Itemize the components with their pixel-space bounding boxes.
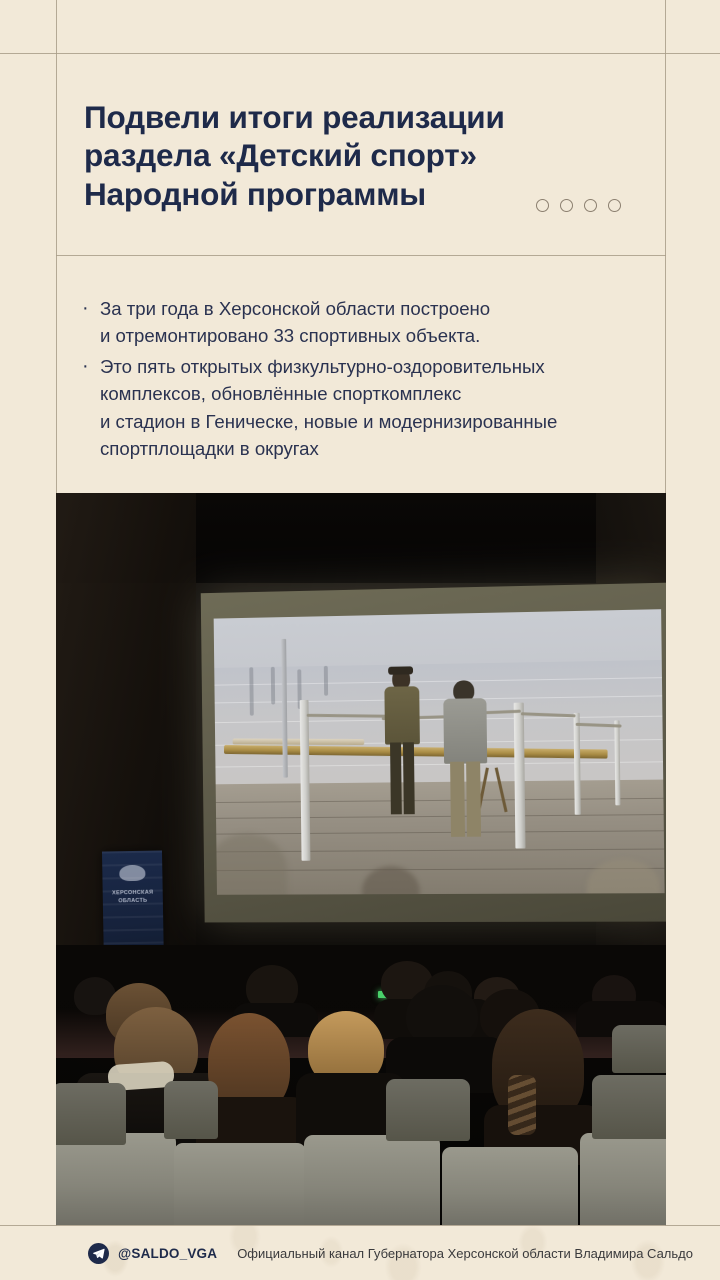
title-block: Подвели итоги реализации раздела «Детски… — [84, 98, 644, 213]
film-rail-post — [573, 713, 580, 815]
film-boat-hull-2 — [233, 739, 365, 746]
bullet-list: За три года в Херсонской области построе… — [78, 295, 658, 466]
seat — [174, 1143, 306, 1225]
seat — [580, 1133, 666, 1225]
seat — [164, 1081, 218, 1139]
projected-film-frame — [214, 609, 665, 895]
seat — [592, 1075, 666, 1139]
seat — [304, 1135, 440, 1225]
telegram-icon[interactable] — [88, 1243, 109, 1264]
dot-3[interactable] — [584, 199, 597, 212]
footer: @SALDO_VGA Официальный канал Губернатора… — [0, 1226, 720, 1280]
seat — [442, 1147, 578, 1225]
seat — [386, 1079, 470, 1141]
film-person-civilian — [442, 680, 489, 843]
dot-1[interactable] — [536, 199, 549, 212]
film-rail-post — [614, 721, 620, 806]
projection-screen — [201, 583, 666, 923]
footer-description: Официальный канал Губернатора Херсонской… — [237, 1246, 693, 1261]
rule-mid-horizontal — [56, 255, 666, 256]
dot-2[interactable] — [560, 199, 573, 212]
film-person-officer — [381, 665, 423, 828]
list-item: Это пять открытых физкультурно-оздоровит… — [78, 353, 658, 462]
audience-area — [56, 955, 666, 1225]
story-progress-dots — [536, 199, 621, 212]
banner-label: ХЕРСОНСКАЯ ОБЛАСТЬ — [103, 888, 163, 906]
telegram-handle[interactable]: @SALDO_VGA — [118, 1246, 217, 1261]
seat — [56, 1083, 126, 1145]
photo-auditorium: ХЕРСОНСКАЯ ОБЛАСТЬ — [56, 493, 666, 1225]
list-item: За три года в Херсонской области построе… — [78, 295, 658, 349]
seat — [56, 1133, 176, 1225]
rule-top-horizontal — [0, 53, 720, 54]
banner-crest-icon — [119, 865, 145, 881]
seat — [612, 1025, 666, 1073]
dot-4[interactable] — [608, 199, 621, 212]
page-title: Подвели итоги реализации раздела «Детски… — [84, 98, 644, 213]
story-card: Подвели итоги реализации раздела «Детски… — [0, 0, 720, 1280]
